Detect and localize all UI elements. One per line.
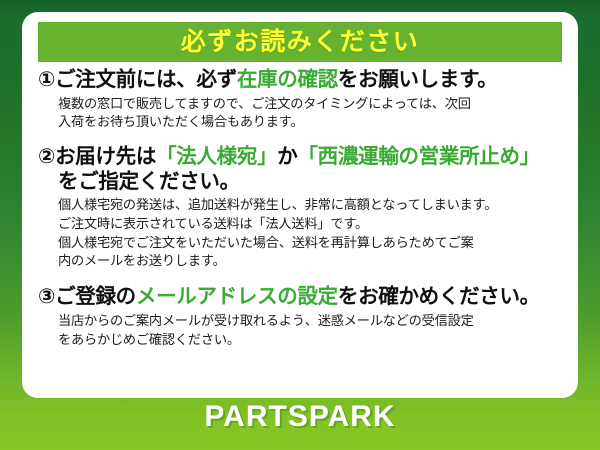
brand-logo-text: PARTSPARK — [0, 402, 600, 432]
notice-item-3: ③ご登録のメールアドレスの設定をお確かめください。 当店からのご案内メールが受け… — [38, 285, 562, 349]
notice-item-3-heading: ③ご登録のメールアドレスの設定をお確かめください。 — [38, 285, 562, 310]
notice-item-3-body-line-2: をあらかじめご確認ください。 — [58, 331, 562, 350]
notice-item-2-body-line-3: 個人様宅宛でご注文をいただいた場合、送料を再計算しあらためてご案 — [58, 234, 562, 253]
notice-item-3-body: 当店からのご案内メールが受け取れるよう、迷惑メールなどの受信設定 をあらかじめご… — [38, 312, 562, 349]
notice-card: 必ずお読みください ①ご注文前には、必ず在庫の確認をお願いします。 複数の窓口で… — [22, 12, 578, 398]
notice-item-2-heading-line-2: をご指定ください。 — [38, 170, 562, 195]
notice-item-2-highlight-1: 「法人様宛」 — [156, 145, 277, 168]
list-marker-1: ① — [38, 68, 55, 93]
notice-item-2-heading-part-2: か — [277, 145, 297, 168]
notice-item-3-heading-part-2: をお確かめください。 — [338, 285, 540, 308]
list-marker-2: ② — [38, 145, 55, 170]
notice-item-1-heading-part-2: をお願いします。 — [338, 68, 498, 91]
notice-item-2: ②お届け先は「法人様宛」か「西濃運輸の営業所止め」をご指定ください。 個人様宅宛… — [38, 145, 562, 271]
list-marker-3: ③ — [38, 285, 55, 310]
notice-sections: ①ご注文前には、必ず在庫の確認をお願いします。 複数の窓口で販売してますので、ご… — [36, 68, 564, 349]
notice-item-3-body-line-1: 当店からのご案内メールが受け取れるよう、迷惑メールなどの受信設定 — [58, 312, 562, 331]
notice-item-1-heading: ①ご注文前には、必ず在庫の確認をお願いします。 — [38, 68, 562, 93]
notice-item-3-highlight: メールアドレスの設定 — [136, 285, 338, 308]
notice-item-2-body-line-2: ご注文時に表示されている送料は「法人送料」です。 — [58, 215, 562, 234]
page-title: 必ずお読みください — [181, 30, 420, 55]
notice-item-1-body-line-1: 複数の窓口で販売してますので、ご注文のタイミングによっては、次回 — [58, 95, 562, 114]
notice-item-2-body: 個人様宅宛の発送は、追加送料が発生し、非常に高額となってしまいます。 ご注文時に… — [38, 196, 562, 271]
notice-item-1-body-line-2: 入荷をお待ち頂いただく場合もあります。 — [58, 113, 562, 132]
notice-header-bar: 必ずお読みください — [38, 22, 562, 62]
notice-item-2-heading: ②お届け先は「法人様宛」か「西濃運輸の営業所止め」をご指定ください。 — [38, 145, 562, 194]
notice-item-1-highlight: 在庫の確認 — [237, 68, 338, 91]
notice-item-2-highlight-2: 「西濃運輸の営業所止め」 — [297, 145, 539, 168]
notice-item-1: ①ご注文前には、必ず在庫の確認をお願いします。 複数の窓口で販売してますので、ご… — [38, 68, 562, 132]
notice-item-2-body-line-4: 内のメールをお送りします。 — [58, 252, 562, 271]
notice-item-1-body: 複数の窓口で販売してますので、ご注文のタイミングによっては、次回 入荷をお待ち頂… — [38, 95, 562, 132]
notice-item-2-body-line-1: 個人様宅宛の発送は、追加送料が発生し、非常に高額となってしまいます。 — [58, 196, 562, 215]
notice-poster: 必ずお読みください ①ご注文前には、必ず在庫の確認をお願いします。 複数の窓口で… — [0, 0, 600, 450]
notice-item-2-heading-part-1: お届け先は — [55, 145, 156, 168]
notice-item-3-heading-part-1: ご登録の — [55, 285, 136, 308]
notice-item-1-heading-part-1: ご注文前には、必ず — [55, 68, 237, 91]
